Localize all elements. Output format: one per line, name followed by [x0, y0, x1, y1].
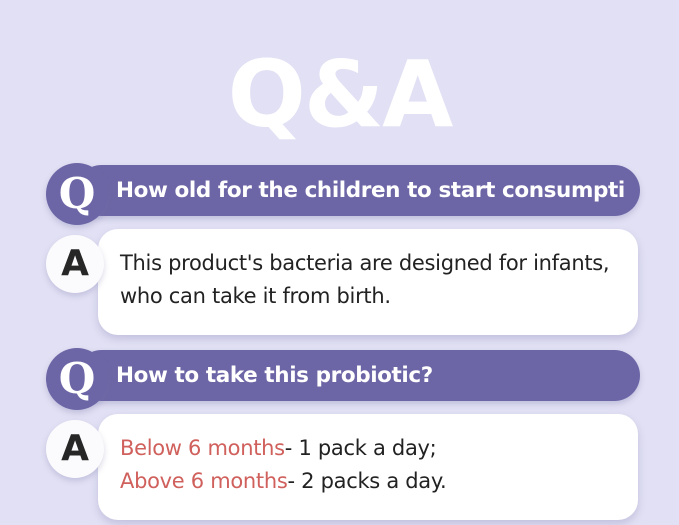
answer-line-2-2: Above 6 months- 2 packs a day.: [120, 465, 616, 498]
answer-rest-2-1: - 1 pack a day;: [285, 436, 437, 460]
answer-line-1-2: who can take it from birth.: [120, 280, 616, 313]
answer-badge-1: A: [46, 235, 104, 293]
page-title: Q&A: [0, 45, 679, 145]
qa-page: Q&A How old for the children to start co…: [0, 0, 679, 525]
answer-highlight-2-2: Above 6 months: [120, 469, 288, 493]
answer-line-1-1: This product's bacteria are designed for…: [120, 247, 616, 280]
question-row-1: How old for the children to start consum…: [0, 163, 679, 223]
answer-card-2: Below 6 months- 1 pack a day; Above 6 mo…: [98, 414, 638, 520]
answer-rest-1-1: This product's bacteria are designed for…: [120, 251, 609, 275]
question-text-1: How old for the children to start consum…: [116, 165, 624, 216]
answer-badge-2: A: [46, 420, 104, 478]
answer-line-2-1: Below 6 months- 1 pack a day;: [120, 432, 616, 465]
question-pill-2[interactable]: How to take this probiotic?: [76, 350, 640, 401]
answer-highlight-2-1: Below 6 months: [120, 436, 285, 460]
question-badge-1: Q: [46, 163, 108, 225]
qa-block-1: How old for the children to start consum…: [0, 163, 679, 229]
question-pill-1[interactable]: How old for the children to start consum…: [76, 165, 640, 216]
answer-rest-1-2: who can take it from birth.: [120, 284, 391, 308]
question-badge-2: Q: [46, 348, 108, 410]
answer-rest-2-2: - 2 packs a day.: [288, 469, 447, 493]
question-row-2: How to take this probiotic? Q: [0, 348, 679, 408]
qa-block-2: How to take this probiotic? Q Below 6 mo…: [0, 348, 679, 414]
question-text-2: How to take this probiotic?: [116, 350, 624, 401]
answer-card-1: This product's bacteria are designed for…: [98, 229, 638, 335]
